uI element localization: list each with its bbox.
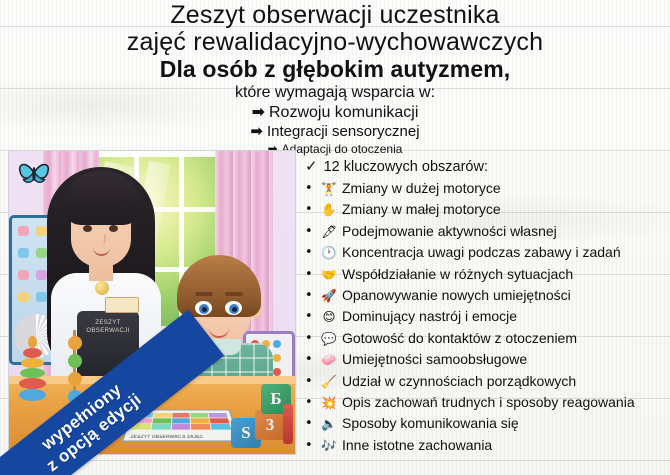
list-item-label: Opis zachowań trudnych i sposoby reagowa… — [342, 392, 663, 413]
list-item-label: Zmiany w dużej motoryce — [342, 178, 663, 199]
board-chip — [36, 292, 47, 302]
board-chip — [18, 226, 29, 236]
red-marker — [283, 404, 293, 444]
broom-icon: 🧹 — [319, 371, 339, 392]
apron-print-line-1: ZESZYT — [81, 319, 135, 327]
board-chip — [36, 248, 47, 258]
worksheet-cell — [191, 424, 211, 430]
apron-print: ZESZYT OBSERWACJI — [81, 319, 135, 335]
cube-letter: Б — [270, 389, 281, 409]
bullet-icon: • — [305, 413, 319, 434]
bullet-icon: • — [305, 242, 319, 263]
teacher-name-badge — [105, 297, 139, 313]
worksheet-cell — [153, 413, 171, 418]
butterfly-icon — [17, 159, 51, 187]
list-item-label: Sposoby komunikowania się — [342, 413, 663, 434]
title-line-1: Zeszyt obserwacji uczestnika — [0, 2, 670, 29]
handshake-icon: 🤝 — [319, 264, 339, 285]
bullet-icon: • — [305, 285, 319, 306]
worksheet-cell — [171, 424, 190, 430]
list-item: • 🏋 Zmiany w dużej motoryce — [305, 178, 663, 199]
board-chip — [36, 270, 47, 280]
bullet-icon: • — [305, 199, 319, 220]
abacus-bead — [273, 354, 281, 362]
right-arrow-icon: ➡ — [250, 122, 263, 140]
right-arrow-icon: ➡ — [252, 102, 265, 121]
bullet-icon: • — [305, 371, 319, 392]
title-line-2: zajęć rewalidacyjno-wychowawczych — [0, 29, 670, 56]
clock-icon: 🕐 — [319, 242, 339, 263]
list-item-label: Zmiany w małej motoryce — [342, 199, 663, 220]
fountain-pen-icon: 🖋 — [319, 221, 339, 242]
worksheet-cell — [209, 413, 228, 418]
board-chip — [36, 226, 47, 236]
abacus-bead — [273, 340, 281, 348]
subtitle-support-intro: które wymagają wsparcia w: — [0, 83, 670, 102]
key-areas-section: ✓ 12 kluczowych obszarów: • 🏋 Zmiany w d… — [305, 156, 663, 456]
worksheet-cell — [172, 413, 190, 418]
bullet-icon: • — [305, 221, 319, 242]
worksheet-cell — [172, 418, 191, 423]
list-item-label: Podejmowanie aktywności własnej — [342, 221, 663, 242]
apron-print-line-2: OBSERWACJI — [81, 327, 135, 335]
collision-icon: 💥 — [319, 392, 339, 413]
stacker-ring — [20, 368, 45, 378]
raised-hand-icon: ✋ — [319, 199, 339, 220]
alphabet-cube: 3 — [255, 410, 285, 440]
list-item: • ✋ Zmiany w małej motoryce — [305, 199, 663, 220]
bullet-icon: • — [305, 435, 319, 456]
bullet-icon: • — [305, 349, 319, 370]
list-item: • 🤝 Współdziałanie w różnych sytuacjach — [305, 264, 663, 285]
abacus-bead — [273, 368, 281, 376]
board-chip — [18, 270, 29, 280]
bullet-icon: • — [305, 306, 319, 327]
weight-lifter-icon: 🏋 — [319, 178, 339, 199]
list-item: • 😊 Dominujący nastrój i emocje — [305, 306, 663, 327]
worksheet-cell — [191, 413, 209, 418]
bullet-icon: • — [305, 392, 319, 413]
maze-bead — [68, 372, 82, 386]
list-item: • 🔈 Sposoby komunikowania się — [305, 413, 663, 434]
key-areas-list: • 🏋 Zmiany w dużej motoryce • ✋ Zmiany w… — [305, 178, 663, 456]
cube-letter: S — [241, 423, 250, 443]
worksheet-caption: ZESZYT OBSERWACJI ZAJĘĆ — [130, 435, 233, 440]
support-bullet-2-label: Integracji sensorycznej — [267, 123, 420, 140]
speech-balloon-icon: 💬 — [319, 328, 339, 349]
maze-bead — [68, 336, 82, 350]
musical-notes-icon: 🎶 — [319, 435, 339, 456]
worksheet-cell — [152, 418, 171, 423]
teacher-eye — [109, 225, 118, 232]
list-item: • 🧹 Udział w czynnościach porządkowych — [305, 371, 663, 392]
list-item: • 🎶 Inne istotne zachowania — [305, 435, 663, 456]
list-item-label: Udział w czynnościach porządkowych — [342, 371, 663, 392]
list-item: • 🚀 Opanowywanie nowych umiejętności — [305, 285, 663, 306]
boy-pupil — [232, 307, 237, 312]
cube-letter: 3 — [266, 415, 275, 435]
worksheet-cell — [210, 418, 230, 423]
maze-bead — [68, 354, 82, 368]
list-item: • 🧼 Umiejętności samoobsługowe — [305, 349, 663, 370]
page-title-block: Zeszyt obserwacji uczestnika zajęć rewal… — [0, 2, 670, 157]
subtitle-target-group: Dla osób z głębokim autyzmem, — [0, 56, 670, 83]
list-item-label: Koncentracja uwagi podczas zabawy i zada… — [342, 242, 663, 263]
stacker-ring — [19, 389, 46, 401]
list-item: • 💬 Gotowość do kontaktów z otoczeniem — [305, 328, 663, 349]
board-chip — [18, 248, 29, 258]
soap-icon: 🧼 — [319, 349, 339, 370]
poster-page: Zeszyt obserwacji uczestnika zajęć rewal… — [0, 0, 670, 475]
list-item-label: Współdziałanie w różnych sytuacjach — [342, 264, 663, 285]
rocket-icon: 🚀 — [319, 285, 339, 306]
list-item-label: Opanowywanie nowych umiejętności — [342, 285, 663, 306]
stacker-ring — [21, 358, 44, 368]
boy-eyebrow — [195, 292, 213, 296]
teacher-eye — [83, 225, 92, 232]
support-bullet-1-label: Rozwoju komunikacji — [269, 104, 418, 121]
bullet-icon: • — [305, 328, 319, 349]
list-item: • 💥 Opis zachowań trudnych i sposoby rea… — [305, 392, 663, 413]
key-areas-header-label: 12 kluczowych obszarów: — [324, 157, 488, 177]
bullet-icon: • — [305, 264, 319, 285]
support-bullet-1: ➡Rozwoju komunikacji — [0, 102, 670, 122]
key-areas-header: ✓ 12 kluczowych obszarów: — [305, 156, 663, 177]
board-chip — [18, 292, 29, 302]
list-item: • 🖋 Podejmowanie aktywności własnej — [305, 221, 663, 242]
teacher-nose — [98, 235, 106, 244]
list-item-label: Gotowość do kontaktów z otoczeniem — [342, 328, 663, 349]
teacher-necklace-pendant — [95, 281, 109, 295]
speaker-icon: 🔈 — [319, 413, 339, 434]
check-icon: ✓ — [305, 156, 318, 176]
stacker-ring — [23, 348, 42, 358]
boy-pupil — [202, 307, 207, 312]
worksheet-cell — [191, 418, 210, 423]
support-bullet-2: ➡Integracji sensorycznej — [0, 122, 670, 141]
bullet-icon: • — [305, 178, 319, 199]
list-item-label: Dominujący nastrój i emocje — [342, 306, 663, 327]
stacker-ring — [19, 378, 46, 389]
support-bullet-3-label: Adaptacji do otoczenia — [282, 142, 403, 156]
ring-stacker-toy — [19, 336, 45, 402]
smiling-face-icon: 😊 — [319, 306, 339, 327]
worksheet-cell — [211, 424, 231, 430]
list-item-label: Umiejętności samoobsługowe — [342, 349, 663, 370]
boy-eyebrow — [225, 292, 243, 296]
stacker-ring — [28, 336, 37, 348]
list-item: • 🕐 Koncentracja uwagi podczas zabawy i … — [305, 242, 663, 263]
list-item-label: Inne istotne zachowania — [342, 435, 663, 456]
worksheet-cell — [151, 424, 171, 430]
